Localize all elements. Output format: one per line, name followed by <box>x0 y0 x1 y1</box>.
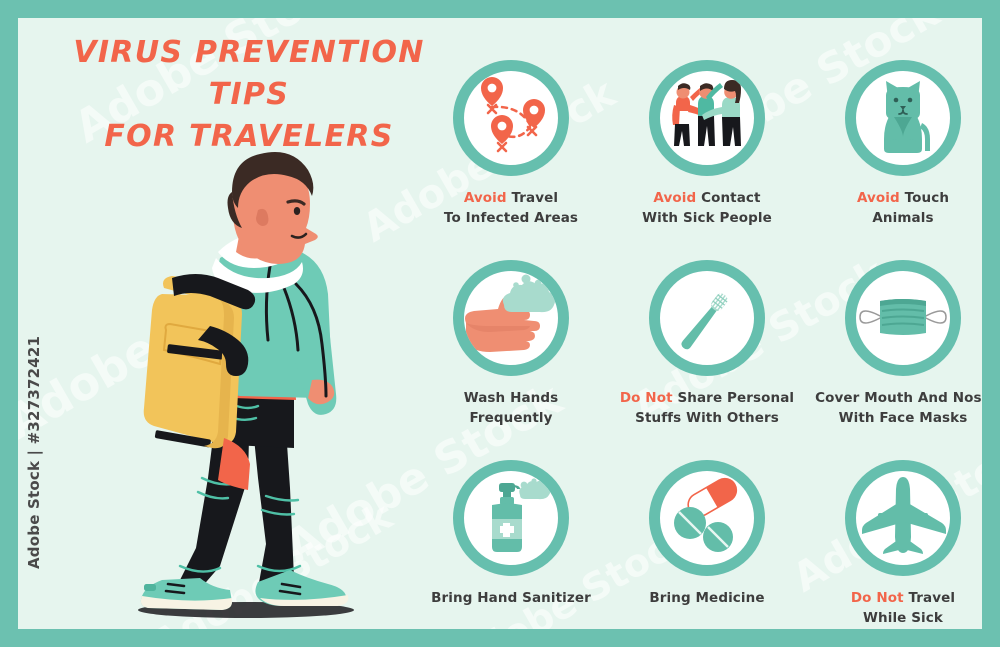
tip-highlight: Do Not <box>620 390 673 406</box>
tip-line1-rest: Cover Mouth And Nose <box>815 390 982 406</box>
hand-washing-soap-icon <box>453 260 569 376</box>
tip-avoid-travel-infected-areas[interactable]: Avoid Travel To Infected Areas <box>413 60 609 228</box>
tip-line1-rest: Travel <box>904 590 955 606</box>
tip-line2: With Sick People <box>642 210 772 226</box>
stock-watermark-id: Adobe Stock | #327372421 <box>25 309 43 569</box>
tip-caption: Avoid Travel To Infected Areas <box>413 188 609 228</box>
tip-line2: While Sick <box>863 610 943 626</box>
cat-icon <box>845 60 961 176</box>
map-pins-route-icon <box>453 60 569 176</box>
tip-highlight: Avoid <box>653 190 696 206</box>
tip-bring-hand-sanitizer[interactable]: Bring Hand Sanitizer <box>413 460 609 608</box>
tips-grid: Avoid Travel To Infected Areas <box>413 40 982 620</box>
tip-line2: Frequently <box>469 410 552 426</box>
tip-do-not-travel-while-sick[interactable]: Do Not Travel While Sick <box>805 460 982 628</box>
tip-line1-rest: Contact <box>696 190 760 206</box>
tip-line1-rest: Share Personal <box>673 390 795 406</box>
tip-wash-hands-frequently[interactable]: Wash Hands Frequently <box>413 260 609 428</box>
tip-do-not-share-personal-stuffs[interactable]: Do Not Share Personal Stuffs With Others <box>609 260 805 428</box>
tip-bring-medicine[interactable]: Bring Medicine <box>609 460 805 608</box>
tip-highlight: Avoid <box>464 190 507 206</box>
title-line-1: VIRUS PREVENTION TIPS <box>73 35 424 112</box>
tip-line1-rest: Bring Hand Sanitizer <box>431 590 591 606</box>
tip-caption: Bring Hand Sanitizer <box>413 588 609 608</box>
tip-caption: Avoid Touch Animals <box>805 188 982 228</box>
tip-highlight: Do Not <box>851 590 904 606</box>
tip-avoid-touch-animals[interactable]: Avoid Touch Animals <box>805 60 982 228</box>
tip-caption: Wash Hands Frequently <box>413 388 609 428</box>
pills-capsule-icon <box>649 460 765 576</box>
hand-sanitizer-bottle-icon <box>453 460 569 576</box>
tip-caption: Do Not Share Personal Stuffs With Others <box>609 388 805 428</box>
walking-traveler-illustration <box>98 148 388 628</box>
tip-line1-rest: Touch <box>900 190 949 206</box>
airplane-icon <box>845 460 961 576</box>
tip-line2: With Face Masks <box>839 410 968 426</box>
three-people-contact-icon <box>649 60 765 176</box>
tip-line2: To Infected Areas <box>444 210 578 226</box>
tip-highlight: Avoid <box>857 190 900 206</box>
tip-line1-rest: Travel <box>507 190 558 206</box>
tip-caption: Bring Medicine <box>609 588 805 608</box>
tip-line2: Animals <box>872 210 933 226</box>
tip-caption: Do Not Travel While Sick <box>805 588 982 628</box>
tip-avoid-contact-sick-people[interactable]: Avoid Contact With Sick People <box>609 60 805 228</box>
infographic-poster: Adobe Stock Adobe Stock Adobe Stock Adob… <box>0 0 1000 647</box>
tip-caption: Avoid Contact With Sick People <box>609 188 805 228</box>
face-mask-icon <box>845 260 961 376</box>
tip-caption: Cover Mouth And Nose With Face Masks <box>805 388 982 428</box>
page-title: VIRUS PREVENTION TIPS FOR TRAVELERS <box>34 32 464 158</box>
tip-line1-rest: Wash Hands <box>464 390 559 406</box>
tip-line1-rest: Bring Medicine <box>649 590 764 606</box>
tip-line2: Stuffs With Others <box>635 410 779 426</box>
poster-canvas: Adobe Stock Adobe Stock Adobe Stock Adob… <box>18 18 982 629</box>
toothbrush-icon <box>649 260 765 376</box>
tip-cover-mouth-nose-face-mask[interactable]: Cover Mouth And Nose With Face Masks <box>805 260 982 428</box>
